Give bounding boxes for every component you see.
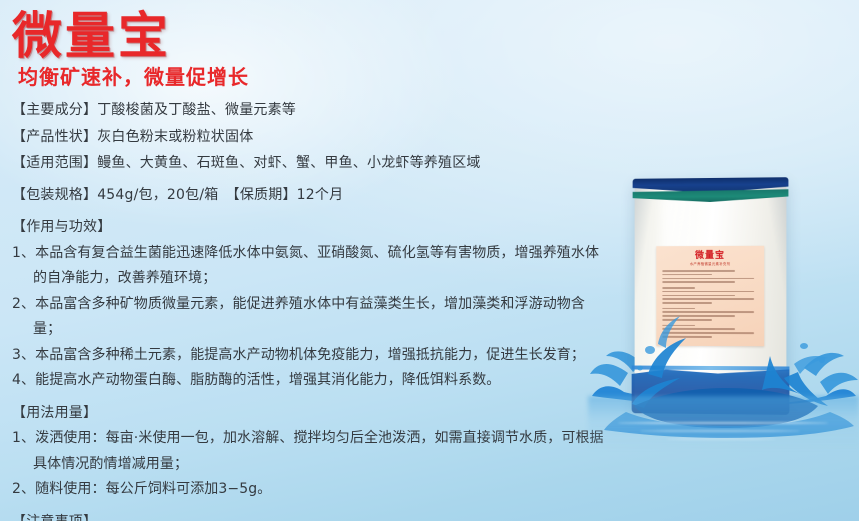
page-title: 微量宝 [12, 8, 171, 64]
spec-ingredients: 【主要成分】丁酸梭菌及丁酸盐、微量元素等 [12, 98, 612, 124]
cautions-heading: 【注意事项】 [12, 510, 612, 521]
product-poster: 微量宝 均衡矿速补，微量促增长 【主要成分】丁酸梭菌及丁酸盐、微量元素等 【产品… [0, 0, 859, 521]
list-item: 2、本品富含多种矿物质微量元素，能促进养殖水体中有益藻类生长，增加藻类和浮游动物… [12, 292, 612, 343]
page-subtitle: 均衡矿速补，微量促增长 [18, 64, 249, 90]
list-item: 1、泼洒使用：每亩·米使用一包，加水溶解、搅拌均匀后全池泼洒，如需直接调节水质，… [12, 426, 612, 477]
list-item: 3、本品富含多种稀土元素，能提高水产动物机体免疫能力，增强抵抗能力，促进生长发育… [12, 343, 612, 369]
list-item: 1、本品含有复合益生菌能迅速降低水体中氨氮、亚硝酸氮、硫化氢等有害物质，增强养殖… [12, 241, 612, 292]
product-photo: 微量宝 水产养殖微量元素补充剂 [588, 168, 859, 458]
effects-list: 1、本品含有复合益生菌能迅速降低水体中氨氮、亚硝酸氮、硫化氢等有害物质，增强养殖… [12, 241, 612, 394]
spec-appearance: 【产品性状】灰白色粉末或粉粒状固体 [12, 125, 612, 151]
list-item: 2、随料使用：每公斤饲料可添加3−5g。 [12, 477, 612, 503]
effects-heading: 【作用与功效】 [12, 215, 612, 241]
usage-list: 1、泼洒使用：每亩·米使用一包，加水溶解、搅拌均匀后全池泼洒，如需直接调节水质，… [12, 426, 612, 503]
list-item: 4、能提高水产动物蛋白酶、脂肪酶的活性，增强其消化能力，降低饵料系数。 [12, 368, 612, 394]
usage-heading: 【用法用量】 [12, 401, 612, 427]
spec-scope: 【适用范围】鳗鱼、大黄鱼、石斑鱼、对虾、蟹、甲鱼、小龙虾等养殖区域 [12, 151, 612, 177]
spec-packaging: 【包装规格】454g/包，20包/箱 【保质期】12个月 [12, 183, 612, 209]
product-description: 【主要成分】丁酸梭菌及丁酸盐、微量元素等 【产品性状】灰白色粉末或粉粒状固体 【… [12, 98, 612, 521]
